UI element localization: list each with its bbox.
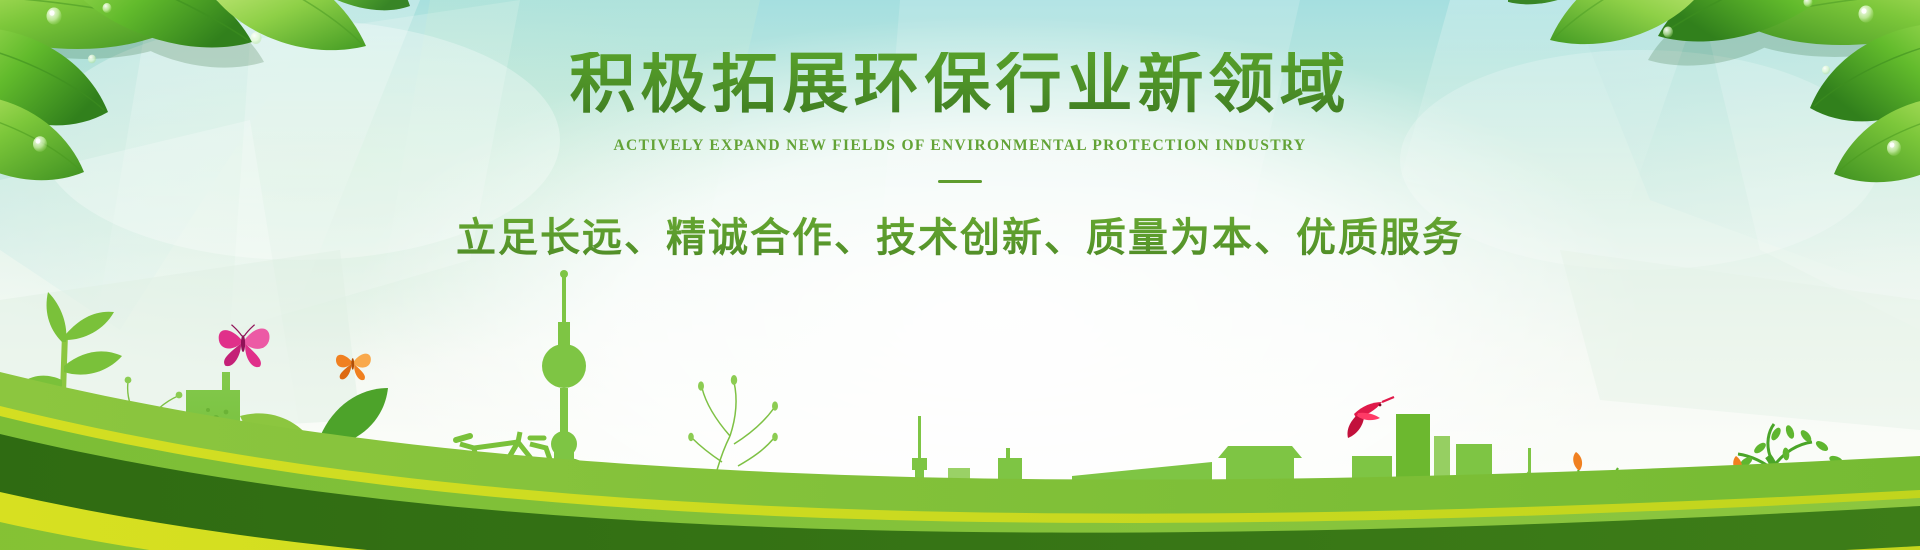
butterfly-icon: [336, 354, 371, 381]
top-left-leaf-cluster: [0, 0, 410, 186]
title-divider: [938, 180, 982, 183]
dandelion-heads-icon: [688, 375, 778, 441]
banner-tagline: 立足长远、精诚合作、技术创新、质量为本、优质服务: [0, 205, 1920, 263]
scene-illustration: [0, 230, 1920, 550]
bird-icon: [1347, 397, 1394, 438]
wave-bands: [0, 372, 1920, 550]
eco-banner: 积极拓展环保行业新领域 ACTIVELY EXPAND NEW FIELDS O…: [0, 0, 1920, 550]
butterfly-icon: [219, 325, 270, 368]
top-right-leaf-cluster: [1508, 0, 1920, 194]
